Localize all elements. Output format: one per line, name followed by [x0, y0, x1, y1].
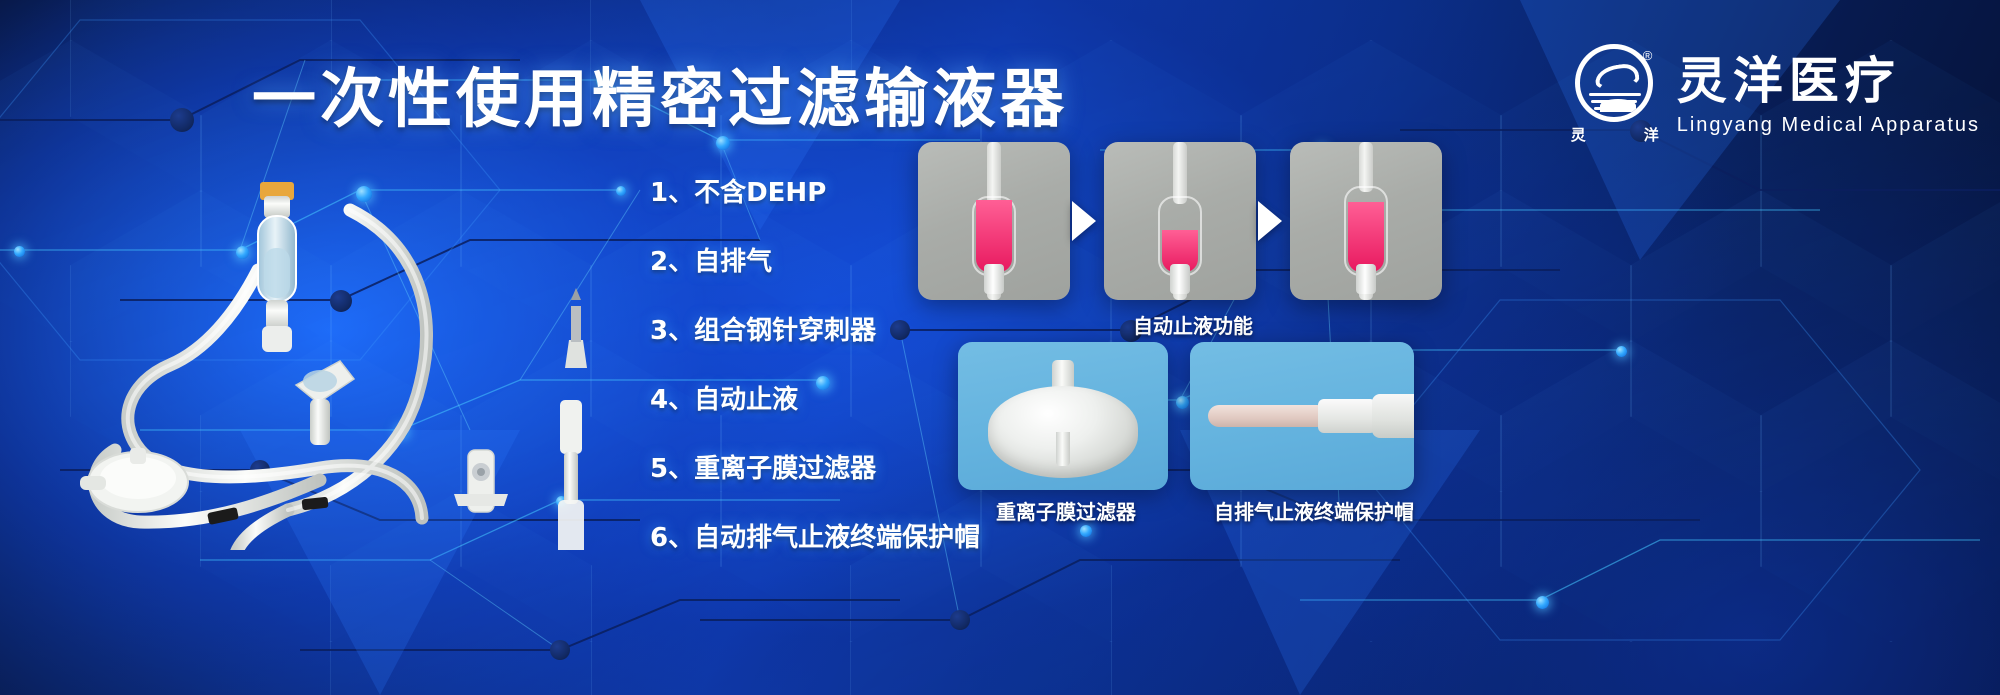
brand-name-cn: 灵洋医疗 [1677, 56, 1980, 106]
company-seal-icon: ® 灵 洋 [1571, 44, 1659, 148]
seal-right-char: 洋 [1644, 124, 1659, 145]
gallery-image-protective-cap [1190, 342, 1414, 490]
feature-item-3: 3、组合钢针穿刺器 [650, 310, 980, 347]
registered-mark: ® [1643, 48, 1653, 63]
gallery-caption-protective-cap: 自排气止液终端保护帽 [1214, 496, 1414, 525]
feature-item-5: 5、重离子膜过滤器 [650, 448, 980, 485]
flow-arrow-icon [1072, 201, 1096, 241]
product-banner: 一次性使用精密过滤输液器 ® 灵 洋 灵洋医疗 Lingyang Medical… [0, 0, 2000, 695]
network-node [550, 640, 570, 660]
network-node [1536, 596, 1549, 609]
gallery-image-autostop-3 [1290, 142, 1442, 300]
gallery-image-autostop-2 [1104, 142, 1256, 300]
brand-logo: ® 灵 洋 灵洋医疗 Lingyang Medical Apparatus [1571, 44, 1980, 148]
brand-text: 灵洋医疗 Lingyang Medical Apparatus [1677, 56, 1980, 137]
network-node [1176, 396, 1189, 409]
network-node [950, 610, 970, 630]
brand-name-en: Lingyang Medical Apparatus [1677, 114, 1980, 137]
seal-left-char: 灵 [1571, 124, 1586, 145]
iv-set-illustration [20, 150, 660, 550]
network-node [1080, 525, 1092, 537]
gallery-caption-autostop: 自动止液功能 [1133, 310, 1253, 339]
network-node [1616, 346, 1627, 357]
gallery-image-autostop-1 [918, 142, 1070, 300]
gallery-caption-filter: 重离子膜过滤器 [996, 496, 1136, 525]
iv-infusion-set-photo [20, 150, 660, 550]
flow-arrow-icon [1258, 201, 1282, 241]
gallery-image-filter [958, 342, 1168, 490]
page-title: 一次性使用精密过滤输液器 [252, 48, 1068, 140]
feature-item-4: 4、自动止液 [650, 379, 980, 416]
network-node [170, 108, 194, 132]
feature-item-6: 6、自动排气止液终端保护帽 [650, 517, 980, 554]
